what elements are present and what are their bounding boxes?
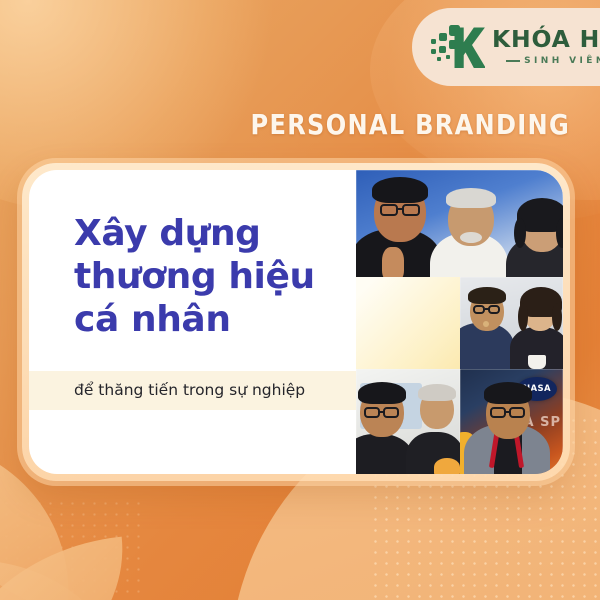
brand-name: KHÓA HỌC bbox=[492, 28, 600, 52]
photo-collage: NASA A SP bbox=[356, 170, 563, 474]
brand-logo[interactable]: KHÓA HỌC SINH VIÊN bbox=[412, 8, 600, 86]
bg-dot-pattern-bottom-left bbox=[0, 498, 140, 600]
brand-tagline: SINH VIÊN bbox=[524, 57, 600, 66]
bg-petal-shape-3 bbox=[0, 560, 120, 600]
kicker-text: PERSONAL BRANDING bbox=[80, 108, 570, 141]
photo-two-men-indoors bbox=[356, 369, 460, 474]
brand-tagline-row: SINH VIÊN bbox=[506, 57, 600, 66]
bg-petal-shape-2 bbox=[0, 537, 137, 600]
tagline-rule-left bbox=[506, 60, 520, 62]
photo-three-people-thumbs-up bbox=[356, 170, 563, 277]
card-text-column: Xây dựng thương hiệu cá nhân để thăng ti… bbox=[29, 170, 349, 474]
main-content-card: Xây dựng thương hiệu cá nhân để thăng ti… bbox=[29, 170, 563, 474]
headline-line-2: thương hiệu bbox=[74, 255, 349, 298]
poster-root: KHÓA HỌC SINH VIÊN PERSONAL BRANDING Xây… bbox=[0, 0, 600, 600]
headline-line-1: Xây dựng bbox=[74, 212, 349, 255]
khoa-hoc-k-pixel-logo-icon bbox=[429, 22, 485, 72]
brand-logo-text: KHÓA HỌC SINH VIÊN bbox=[492, 28, 600, 66]
headline-line-3: cá nhân bbox=[74, 298, 349, 341]
subtitle-text: để thăng tiến trong sự nghiệp bbox=[74, 381, 361, 399]
photo-man-at-nasa-event: NASA A SP bbox=[460, 369, 563, 474]
headline: Xây dựng thương hiệu cá nhân bbox=[74, 212, 349, 342]
subtitle-band: để thăng tiến trong sự nghiệp bbox=[29, 371, 361, 410]
photo-placeholder-cream bbox=[356, 277, 460, 369]
photo-man-and-woman-seated bbox=[460, 277, 563, 369]
